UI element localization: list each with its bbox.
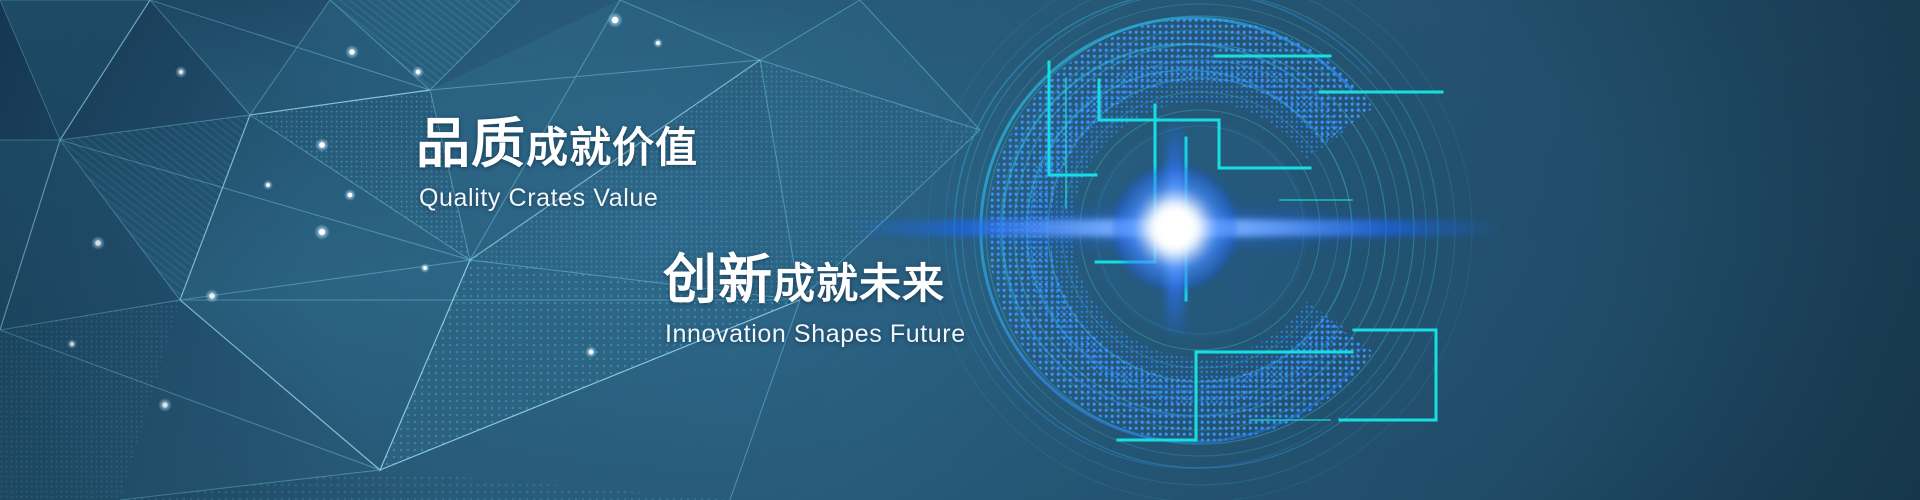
slogan-quality-chinese: 品质成就价值 [416, 117, 698, 171]
slogan-innovation: 创新成就未来 Innovation Shapes Future [663, 253, 966, 349]
slogan-innovation-chinese-minor: 成就未来 [773, 260, 945, 307]
flare-core-white [1152, 205, 1198, 251]
slogan-innovation-chinese-major: 创新 [663, 250, 773, 310]
slogan-quality-chinese-major: 品质 [416, 114, 526, 174]
slogan-quality-english: Quality Crates Value [419, 184, 698, 213]
slogan-innovation-chinese: 创新成就未来 [663, 253, 966, 307]
slogan-innovation-english: Innovation Shapes Future [665, 320, 966, 349]
slogan-quality-chinese-minor: 成就价值 [526, 124, 698, 171]
hero-banner: 品质成就价值 Quality Crates Value 创新成就未来 Innov… [0, 0, 1920, 500]
slogan-quality: 品质成就价值 Quality Crates Value [416, 117, 698, 213]
